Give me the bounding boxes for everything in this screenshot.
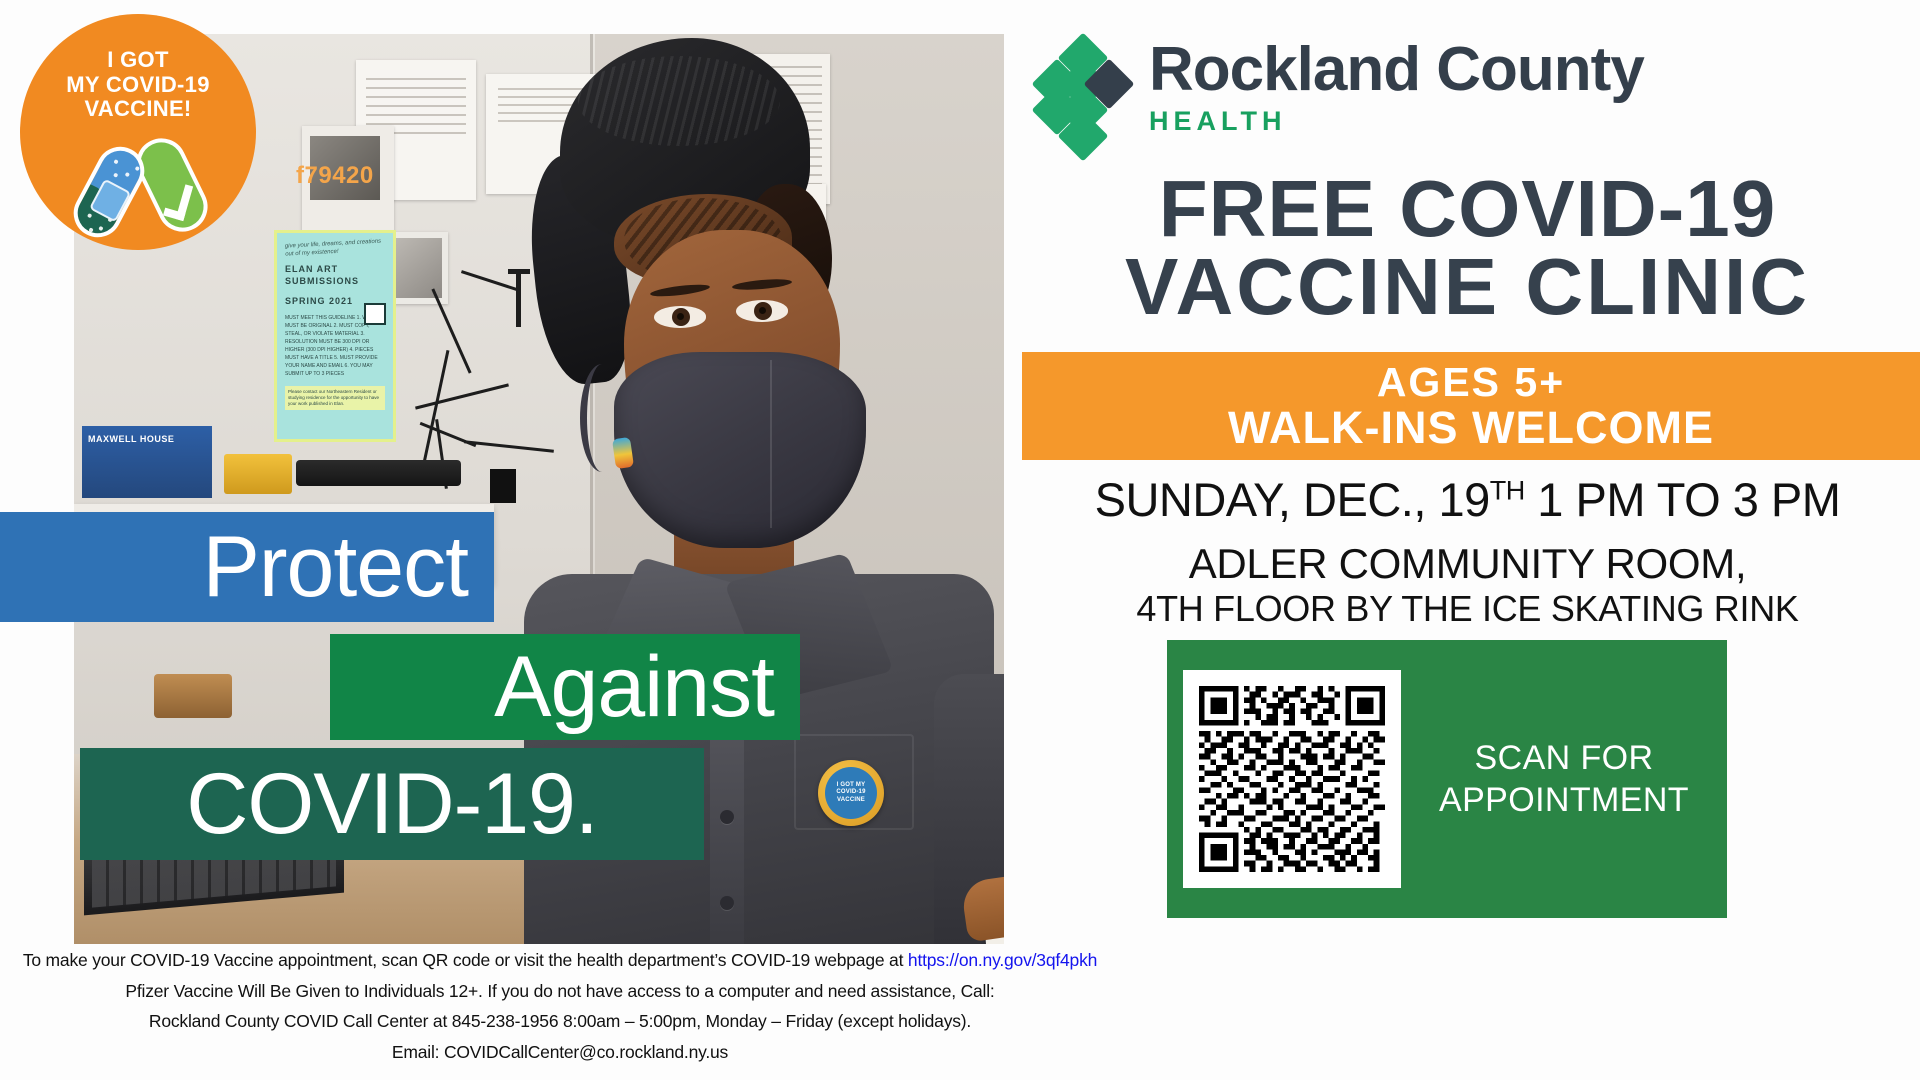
logo-subtitle: HEALTH	[1149, 106, 1644, 137]
banner-line-1: AGES 5+	[1377, 361, 1565, 404]
banner-line-2: WALK-INS WELCOME	[1228, 404, 1714, 451]
right-content-panel: Rockland County HEALTH FREE COVID-19 VAC…	[1015, 0, 1920, 960]
photo-yellow-object	[224, 454, 292, 494]
face-mask	[614, 352, 866, 548]
event-date-prefix: SUNDAY, DEC., 19	[1095, 473, 1490, 526]
qr-appointment-box[interactable]: SCAN FOR APPOINTMENT	[1167, 640, 1727, 918]
scan-line-2: APPOINTMENT	[1409, 779, 1719, 822]
rockland-county-health-logo: Rockland County HEALTH	[1035, 40, 1644, 144]
headline-block-protect: Protect	[0, 512, 494, 622]
photo-wood-object	[250, 684, 290, 720]
vaccine-pin-button: I GOT MY COVID-19 VACCINE	[818, 760, 884, 826]
bandaid-checkmark-icon	[79, 134, 197, 240]
event-location-line-2: 4TH FLOOR BY THE ICE SKATING RINK	[1015, 588, 1920, 630]
page-title: FREE COVID-19 VACCINE CLINIC	[1015, 170, 1920, 327]
photo-watermark: f79420	[296, 162, 374, 190]
footer-info: To make your COVID-19 Vaccine appointmen…	[0, 952, 1120, 1074]
art-poster-script: give your life, dreams, and creations ou…	[285, 237, 386, 258]
shirt-button	[720, 810, 734, 824]
vaccine-sticker-badge: I GOT MY COVID-19 VACCINE!	[20, 14, 256, 250]
event-location-line-1: ADLER COMMUNITY ROOM,	[1015, 540, 1920, 588]
poster-canvas: f79420 give your life, dreams, and creat…	[0, 0, 1920, 1080]
art-poster-title-1: ELAN ART SUBMISSIONS	[285, 264, 385, 287]
art-poster-badge	[364, 303, 386, 325]
photo-wood-object	[154, 674, 232, 718]
diamond-cluster-icon	[1035, 40, 1131, 144]
shirt-button	[720, 896, 734, 910]
eye-right	[736, 300, 788, 322]
footer-line-1-text: To make your COVID-19 Vaccine appointmen…	[23, 950, 908, 970]
heading-line-1: FREE COVID-19	[1159, 164, 1777, 253]
event-time: 1 PM TO 3 PM	[1525, 473, 1841, 526]
blue-box-label: MAXWELL HOUSE	[88, 434, 174, 444]
sticker-line-3: VACCINE!	[84, 97, 191, 122]
checkmark-icon	[128, 130, 216, 240]
art-poster-footer: Please contact our Northeastern Resident…	[285, 386, 385, 410]
headline-block-against: Against	[330, 634, 800, 740]
qr-code-frame	[1183, 670, 1401, 888]
sticker-line-1: I GOT	[107, 48, 168, 73]
eye-left	[654, 306, 706, 328]
photo-black-tool	[296, 460, 461, 486]
photo-blue-box: MAXWELL HOUSE	[82, 426, 212, 498]
footer-line-2: Pfizer Vaccine Will Be Given to Individu…	[0, 983, 1120, 1001]
event-datetime: SUNDAY, DEC., 19TH 1 PM TO 3 PM	[1015, 472, 1920, 527]
footer-line-4: Email: COVIDCallCenter@co.rockland.ny.us	[0, 1044, 1120, 1062]
footer-line-3: Rockland County COVID Call Center at 845…	[0, 1013, 1120, 1031]
elan-art-poster: give your life, dreams, and creations ou…	[274, 230, 396, 442]
eligibility-banner: AGES 5+ WALK-INS WELCOME	[1022, 352, 1920, 460]
heading-line-2: VACCINE CLINIC	[1015, 248, 1920, 326]
scan-line-1: SCAN FOR	[1409, 737, 1719, 780]
footer-line-1: To make your COVID-19 Vaccine appointmen…	[0, 952, 1120, 970]
headline-block-covid: COVID-19.	[80, 748, 704, 860]
scan-for-appointment-label: SCAN FOR APPOINTMENT	[1401, 737, 1727, 822]
covid-webpage-link[interactable]: https://on.ny.gov/3qf4pkh	[908, 950, 1097, 970]
logo-title: Rockland County	[1149, 40, 1644, 100]
event-date-ordinal: TH	[1490, 475, 1525, 505]
sticker-line-2: MY COVID-19	[66, 73, 210, 98]
qr-code-icon[interactable]	[1199, 686, 1385, 872]
